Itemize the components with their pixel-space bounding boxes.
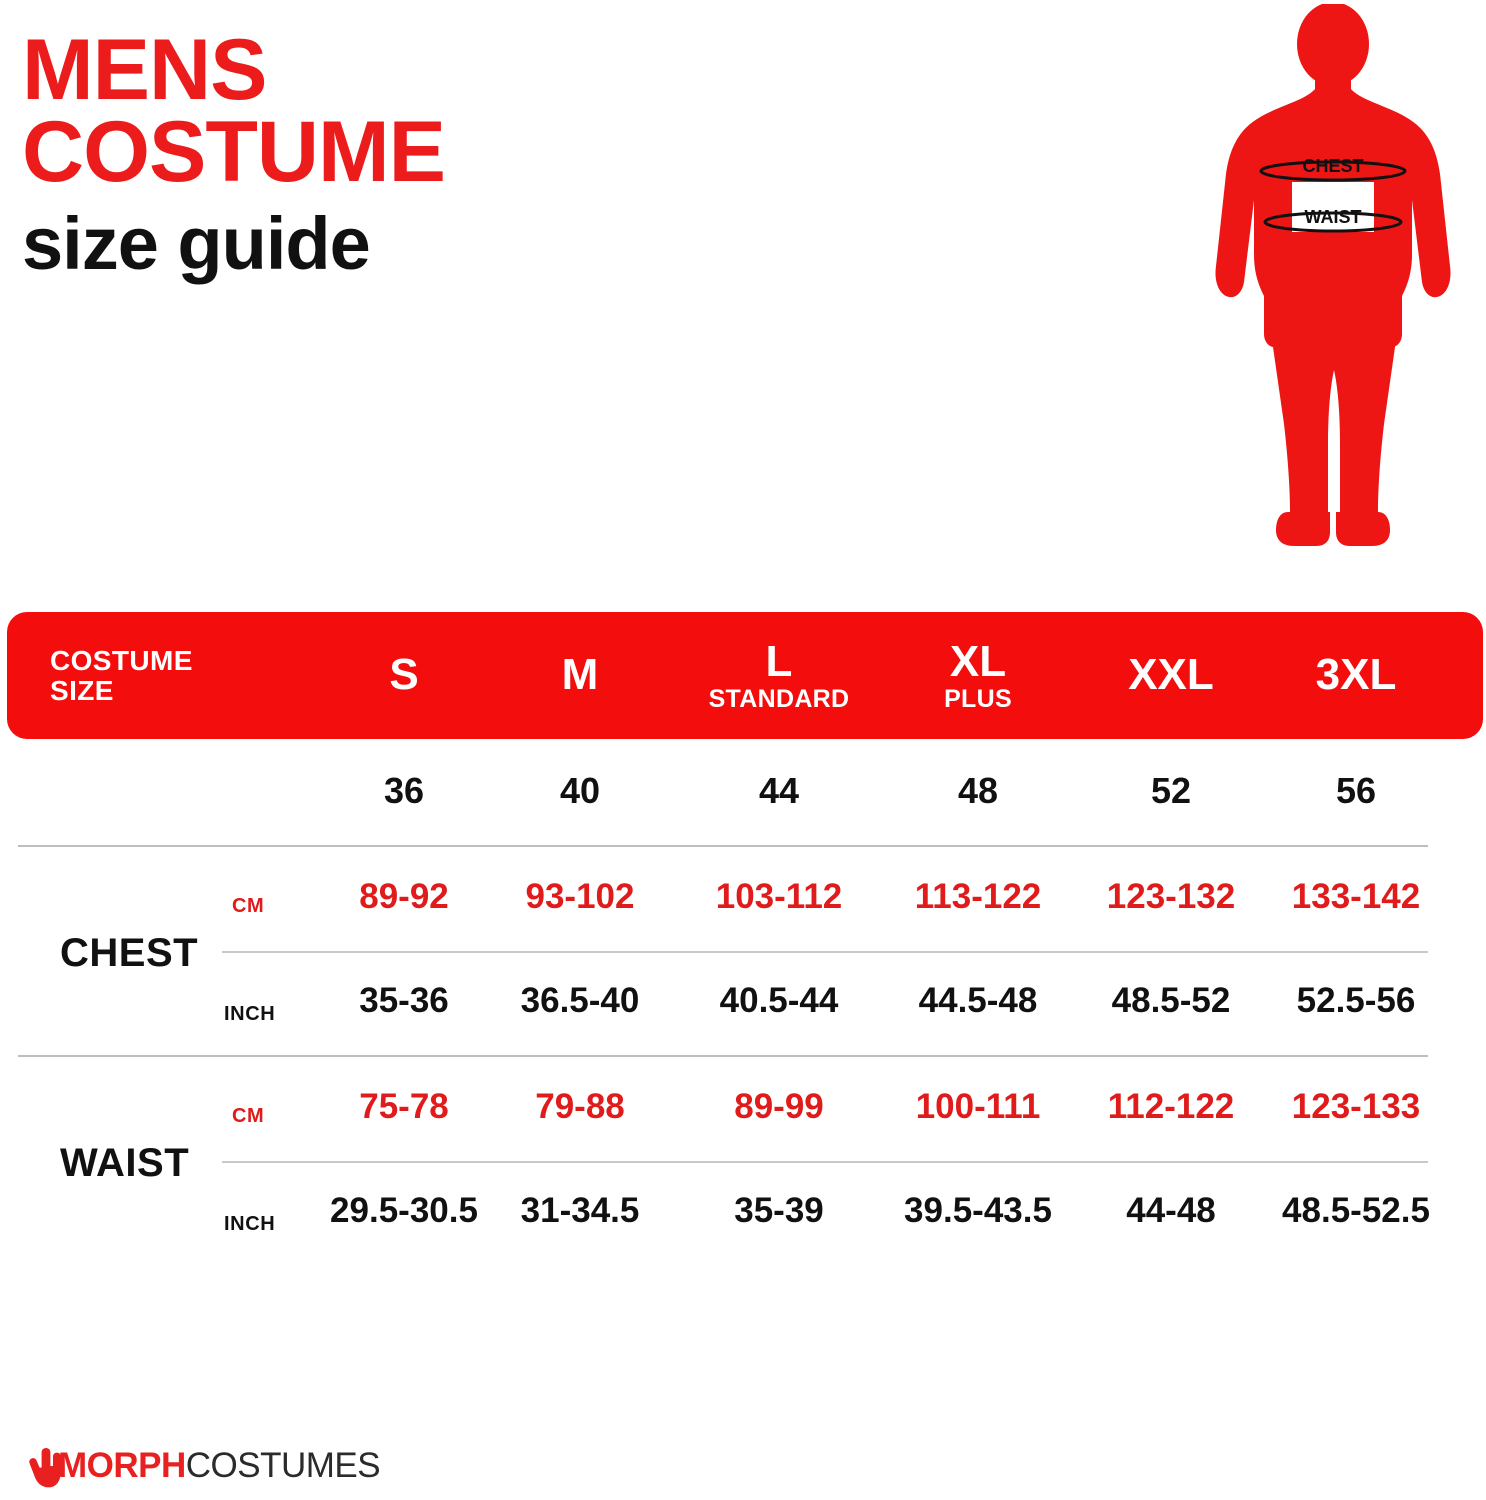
size-table-body: 364044485256 89-9293-102103-112113-12212… xyxy=(0,739,1486,1263)
body-measurement-figure: CHEST WAIST xyxy=(1188,4,1478,552)
table-row-waist-cm: 75-7879-8889-99100-111112-122123-133 xyxy=(0,1055,1486,1159)
logo-suffix-text: COSTUMES xyxy=(186,1446,380,1486)
table-cell: 113-122 xyxy=(883,845,1073,949)
measurement-label-chest: CHEST xyxy=(60,931,198,976)
table-cell-size-number: 52 xyxy=(1076,739,1266,843)
table-row-chest-cm: 89-9293-102103-112113-122123-132133-142 xyxy=(0,845,1486,949)
header-size-note: STANDARD xyxy=(709,686,850,713)
title-subtitle: size guide xyxy=(22,207,722,281)
table-cell: 39.5-43.5 xyxy=(883,1159,1073,1263)
morphcostumes-logo: MORPH COSTUMES xyxy=(26,1442,380,1490)
logo-brand-text: MORPH xyxy=(58,1446,186,1486)
header-size-label: L xyxy=(766,639,793,686)
page-title: MENS COSTUME size guide xyxy=(22,30,722,281)
header-cell-size-xl: XLPLUS xyxy=(883,612,1073,739)
table-cell: 40.5-44 xyxy=(684,949,874,1053)
table-row-chest-inch: 35-3636.5-4040.5-4444.5-4848.5-5252.5-56 xyxy=(0,949,1486,1053)
header-cell-size-l: LSTANDARD xyxy=(684,612,874,739)
table-cell: 112-122 xyxy=(1076,1055,1266,1159)
table-cell: 75-78 xyxy=(309,1055,499,1159)
header-cell-size-xxl: XXL xyxy=(1076,612,1266,739)
header-size-label: XXL xyxy=(1128,652,1214,699)
table-cell: 44-48 xyxy=(1076,1159,1266,1263)
header-size-label: XL xyxy=(950,639,1006,686)
size-table-header: COSTUME SIZESMLSTANDARDXLPLUSXXL3XL xyxy=(7,612,1483,739)
table-cell: 123-132 xyxy=(1076,845,1266,949)
figure-chest-label: CHEST xyxy=(1302,156,1363,176)
table-cell: 48.5-52 xyxy=(1076,949,1266,1053)
measurement-group-waist: 75-7879-8889-99100-111112-122123-13329.5… xyxy=(0,1055,1486,1263)
table-cell: 44.5-48 xyxy=(883,949,1073,1053)
table-cell: 52.5-56 xyxy=(1261,949,1451,1053)
table-cell: 89-92 xyxy=(309,845,499,949)
table-cell: 103-112 xyxy=(684,845,874,949)
title-main: MENS COSTUME xyxy=(22,30,722,193)
table-cell-size-number: 40 xyxy=(485,739,675,843)
figure-waist-label: WAIST xyxy=(1305,207,1362,227)
unit-label-inch: INCH xyxy=(224,1213,275,1236)
header-cell-size-m: M xyxy=(485,612,675,739)
header-cell-costume-size: COSTUME SIZE xyxy=(50,612,290,739)
header-cell-size-s: S xyxy=(309,612,499,739)
table-cell: 36.5-40 xyxy=(485,949,675,1053)
table-cell-size-number: 36 xyxy=(309,739,499,843)
unit-label-cm: CM xyxy=(232,895,264,918)
table-row-size-numbers: 364044485256 xyxy=(0,739,1486,843)
measurement-label-waist: WAIST xyxy=(60,1141,189,1186)
table-cell-size-number: 44 xyxy=(684,739,874,843)
header-cell-size-3xl: 3XL xyxy=(1261,612,1451,739)
header-size-label: 3XL xyxy=(1316,652,1397,699)
unit-label-inch: INCH xyxy=(224,1003,275,1026)
table-cell: 31-34.5 xyxy=(485,1159,675,1263)
table-cell: 93-102 xyxy=(485,845,675,949)
table-cell: 133-142 xyxy=(1261,845,1451,949)
table-cell: 79-88 xyxy=(485,1055,675,1159)
table-cell: 123-133 xyxy=(1261,1055,1451,1159)
table-cell: 100-111 xyxy=(883,1055,1073,1159)
unit-label-cm: CM xyxy=(232,1105,264,1128)
header-size-label: M xyxy=(562,652,599,699)
table-cell-size-number: 56 xyxy=(1261,739,1451,843)
header-size-note: PLUS xyxy=(944,686,1012,713)
table-row-waist-inch: 29.5-30.531-34.535-3939.5-43.544-4848.5-… xyxy=(0,1159,1486,1263)
male-silhouette-icon: CHEST WAIST xyxy=(1188,4,1478,552)
table-cell: 35-36 xyxy=(309,949,499,1053)
table-cell-size-number: 48 xyxy=(883,739,1073,843)
measurement-group-chest: 89-9293-102103-112113-122123-132133-1423… xyxy=(0,845,1486,1053)
table-cell: 89-99 xyxy=(684,1055,874,1159)
table-cell: 48.5-52.5 xyxy=(1261,1159,1451,1263)
table-cell: 35-39 xyxy=(684,1159,874,1263)
header-size-label: S xyxy=(389,652,418,699)
table-cell: 29.5-30.5 xyxy=(309,1159,499,1263)
